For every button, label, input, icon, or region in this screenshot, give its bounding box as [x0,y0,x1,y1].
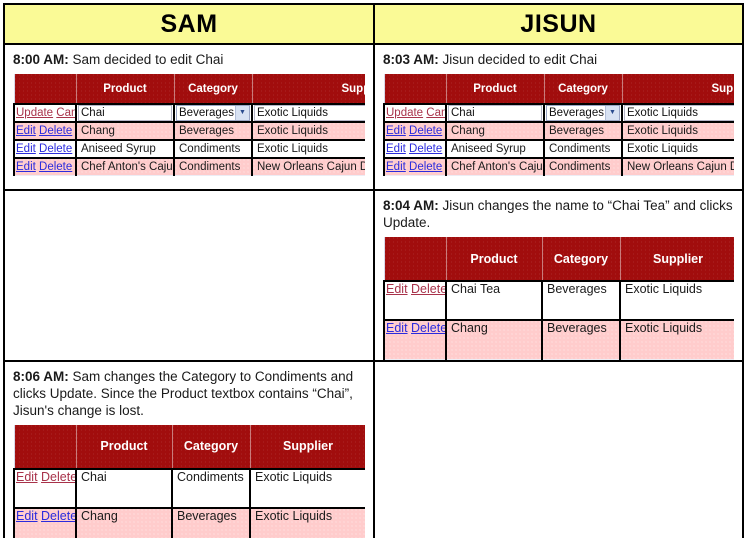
col-product: Product [76,74,174,104]
cell-sam-blank [4,190,374,361]
col-category: Category [174,74,252,104]
cell-category: Beverages [174,122,252,140]
supplier-input-cell[interactable]: Exotic Liquids [622,104,734,122]
cell-supplier: New Orleans Cajun Delights [622,158,734,176]
product-input-cell[interactable]: Chai [446,104,544,122]
table-row: Edit Delete Aniseed Syrup Condiments Exo… [384,140,734,158]
cell-supplier: Exotic Liquids [620,320,734,359]
product-input[interactable]: Chai [78,105,172,121]
cell-jisun-804: 8:04 AM: Jisun changes the name to “Chai… [374,190,743,361]
cell-supplier: New Orleans Cajun Delights [252,158,365,176]
gridview-sam-800: Product Category Supplier Update Cancel … [13,74,365,176]
row-commands: Edit Delete [14,140,76,158]
gridview-jisun-804: Product Category Supplier Edit Delete Ch… [383,237,734,360]
caption-jisun-804: 8:04 AM: Jisun changes the name to “Chai… [383,197,734,231]
delete-link[interactable]: Delete [39,161,72,173]
col-category: Category [544,74,622,104]
person-name-jisun: JISUN [375,6,742,42]
caption-text-sam-800: Sam decided to edit Chai [69,52,224,67]
edit-link[interactable]: Edit [16,509,38,523]
row-commands: Edit Delete [14,469,76,508]
row-commands: Edit Delete [384,281,446,320]
cell-category: Condiments [174,158,252,176]
col-product: Product [446,74,544,104]
category-select[interactable]: Beverages▼ [546,105,620,121]
cell-category: Beverages [172,508,250,538]
edit-link[interactable]: Edit [386,282,408,296]
category-select-value: Beverages [179,107,234,119]
cell-jisun-blank [374,361,743,538]
step-jisun-804: 8:04 AM: Jisun changes the name to “Chai… [375,191,742,360]
step-sam-800: 8:00 AM: Sam decided to edit Chai Produc… [5,45,373,189]
gridview-sam-806: Product Category Supplier Edit Delete Ch… [13,425,365,538]
category-select-cell[interactable]: Beverages▼ [544,104,622,122]
gridview-wrapper-sam-800: Product Category Supplier Update Cancel … [13,74,365,176]
edit-link[interactable]: Edit [16,125,36,137]
delete-link[interactable]: Delete [39,143,72,155]
time-sam-806: 8:06 AM: [13,369,69,384]
table-row: Edit Delete Chang Beverages Exotic Liqui… [14,508,365,538]
cancel-link[interactable]: Cancel [426,107,446,119]
cell-category: Beverages [542,320,620,359]
col-command [14,74,76,104]
gridview-edit-row: Update Cancel Chai Beverages▼ Exotic Liq… [14,104,365,122]
cell-product: Chef Anton's Cajun [446,158,544,176]
row-commands: Edit Delete [384,140,446,158]
cell-category: Beverages [544,122,622,140]
update-link[interactable]: Update [386,107,423,119]
edit-link[interactable]: Edit [386,143,406,155]
row-commands: Edit Delete [384,122,446,140]
table-row: Edit Delete Chai Tea Beverages Exotic Li… [384,281,734,320]
person-header-row: SAM JISUN [4,4,743,44]
cell-product: Chang [76,508,172,538]
col-command [384,74,446,104]
cell-supplier: Exotic Liquids [622,140,734,158]
gridview-header-row: Product Category Supplier [14,425,365,469]
time-sam-800: 8:00 AM: [13,52,69,67]
cell-product: Chai [76,469,172,508]
cell-product: Chai Tea [446,281,542,320]
product-input-cell[interactable]: Chai [76,104,174,122]
cell-supplier: Exotic Liquids [250,469,365,508]
supplier-input[interactable]: Exotic Liquids [254,105,365,121]
cell-supplier: Exotic Liquids [252,140,365,158]
category-select-cell[interactable]: Beverages▼ [174,104,252,122]
row-commands: Edit Delete [14,158,76,176]
cell-product: Chef Anton's Cajun [76,158,174,176]
cell-product: Aniseed Syrup [446,140,544,158]
cell-supplier: Exotic Liquids [250,508,365,538]
gridview-header-row: Product Category Supplier [384,237,734,281]
update-link[interactable]: Update [16,107,53,119]
row-commands: Edit Delete [384,158,446,176]
gridview-header-row: Product Category Supplier [14,74,365,104]
step-sam-806: 8:06 AM: Sam changes the Category to Con… [5,362,373,538]
timeline-row-2: 8:04 AM: Jisun changes the name to “Chai… [4,190,743,361]
edit-row-commands: Update Cancel [384,104,446,122]
table-row: Edit Delete Chai Condiments Exotic Liqui… [14,469,365,508]
table-row: Edit Delete Chef Anton's Cajun Condiment… [14,158,365,176]
category-select[interactable]: Beverages▼ [176,105,250,121]
cell-product: Chang [446,320,542,359]
table-row: Edit Delete Aniseed Syrup Condiments Exo… [14,140,365,158]
edit-link[interactable]: Edit [386,125,406,137]
cell-category: Condiments [544,158,622,176]
table-row: Edit Delete Chang Beverages Exotic Liqui… [384,122,734,140]
delete-link[interactable]: Delete [411,321,446,335]
row-commands: Edit Delete [14,508,76,538]
supplier-input-cell[interactable]: Exotic Liquids [252,104,365,122]
person-header-sam: SAM [4,4,374,44]
caption-jisun-803: 8:03 AM: Jisun decided to edit Chai [383,51,734,68]
cell-supplier: Exotic Liquids [252,122,365,140]
cell-category: Condiments [544,140,622,158]
delete-link[interactable]: Delete [39,125,72,137]
col-product: Product [76,425,172,469]
gridview-edit-row: Update Cancel Chai Beverages▼ Exotic Liq… [384,104,734,122]
person-header-jisun: JISUN [374,4,743,44]
time-jisun-803: 8:03 AM: [383,52,439,67]
cell-category: Condiments [172,469,250,508]
delete-link[interactable]: Delete [409,143,442,155]
step-jisun-803: 8:03 AM: Jisun decided to edit Chai Prod… [375,45,742,189]
delete-link[interactable]: Delete [409,161,442,173]
chevron-down-icon[interactable]: ▼ [235,106,249,120]
gridview-wrapper-jisun-803: Product Category Supplier Update Cancel … [383,74,734,176]
col-supplier: Supplier [622,74,734,104]
cell-supplier: Exotic Liquids [622,122,734,140]
cell-product: Chang [76,122,174,140]
category-select-value: Beverages [549,107,604,119]
col-command [384,237,446,281]
table-row: Edit Delete Chang Beverages Exotic Liqui… [14,122,365,140]
edit-link[interactable]: Edit [16,470,38,484]
col-supplier: Supplier [250,425,365,469]
gridview-header-row: Product Category Supplier [384,74,734,104]
table-row: Edit Delete Chef Anton's Cajun Condiment… [384,158,734,176]
row-commands: Edit Delete [384,320,446,359]
edit-link[interactable]: Edit [386,321,408,335]
cell-jisun-803: 8:03 AM: Jisun decided to edit Chai Prod… [374,44,743,190]
cell-product: Chang [446,122,544,140]
edit-row-commands: Update Cancel [14,104,76,122]
edit-link[interactable]: Edit [16,161,36,173]
cell-sam-800: 8:00 AM: Sam decided to edit Chai Produc… [4,44,374,190]
col-product: Product [446,237,542,281]
timeline-row-1: 8:00 AM: Sam decided to edit Chai Produc… [4,44,743,190]
cell-sam-806: 8:06 AM: Sam changes the Category to Con… [4,361,374,538]
delete-link[interactable]: Delete [41,470,76,484]
cancel-link[interactable]: Cancel [56,107,76,119]
cell-product: Aniseed Syrup [76,140,174,158]
product-input[interactable]: Chai [448,105,542,121]
cell-category: Beverages [542,281,620,320]
gridview-wrapper-sam-806: Product Category Supplier Edit Delete Ch… [13,425,365,538]
supplier-input[interactable]: Exotic Liquids [624,105,734,121]
col-command [14,425,76,469]
col-supplier: Supplier [252,74,365,104]
row-commands: Edit Delete [14,122,76,140]
caption-text-jisun-803: Jisun decided to edit Chai [439,52,597,67]
edit-link[interactable]: Edit [16,143,36,155]
delete-link[interactable]: Delete [411,282,446,296]
person-name-sam: SAM [5,6,373,42]
comparison-grid: SAM JISUN 8:00 AM: Sam decided to edit C… [3,3,744,538]
screenshot-root: SAM JISUN 8:00 AM: Sam decided to edit C… [0,0,747,538]
delete-link[interactable]: Delete [41,509,76,523]
cell-supplier: Exotic Liquids [620,281,734,320]
col-supplier: Supplier [620,237,734,281]
time-jisun-804: 8:04 AM: [383,198,439,213]
edit-link[interactable]: Edit [386,161,406,173]
col-category: Category [172,425,250,469]
caption-sam-806: 8:06 AM: Sam changes the Category to Con… [13,368,365,419]
delete-link[interactable]: Delete [409,125,442,137]
chevron-down-icon[interactable]: ▼ [605,106,619,120]
col-category: Category [542,237,620,281]
caption-sam-800: 8:00 AM: Sam decided to edit Chai [13,51,365,68]
timeline-row-3: 8:06 AM: Sam changes the Category to Con… [4,361,743,538]
gridview-jisun-803: Product Category Supplier Update Cancel … [383,74,734,176]
gridview-wrapper-jisun-804: Product Category Supplier Edit Delete Ch… [383,237,734,360]
cell-category: Condiments [174,140,252,158]
table-row: Edit Delete Chang Beverages Exotic Liqui… [384,320,734,359]
